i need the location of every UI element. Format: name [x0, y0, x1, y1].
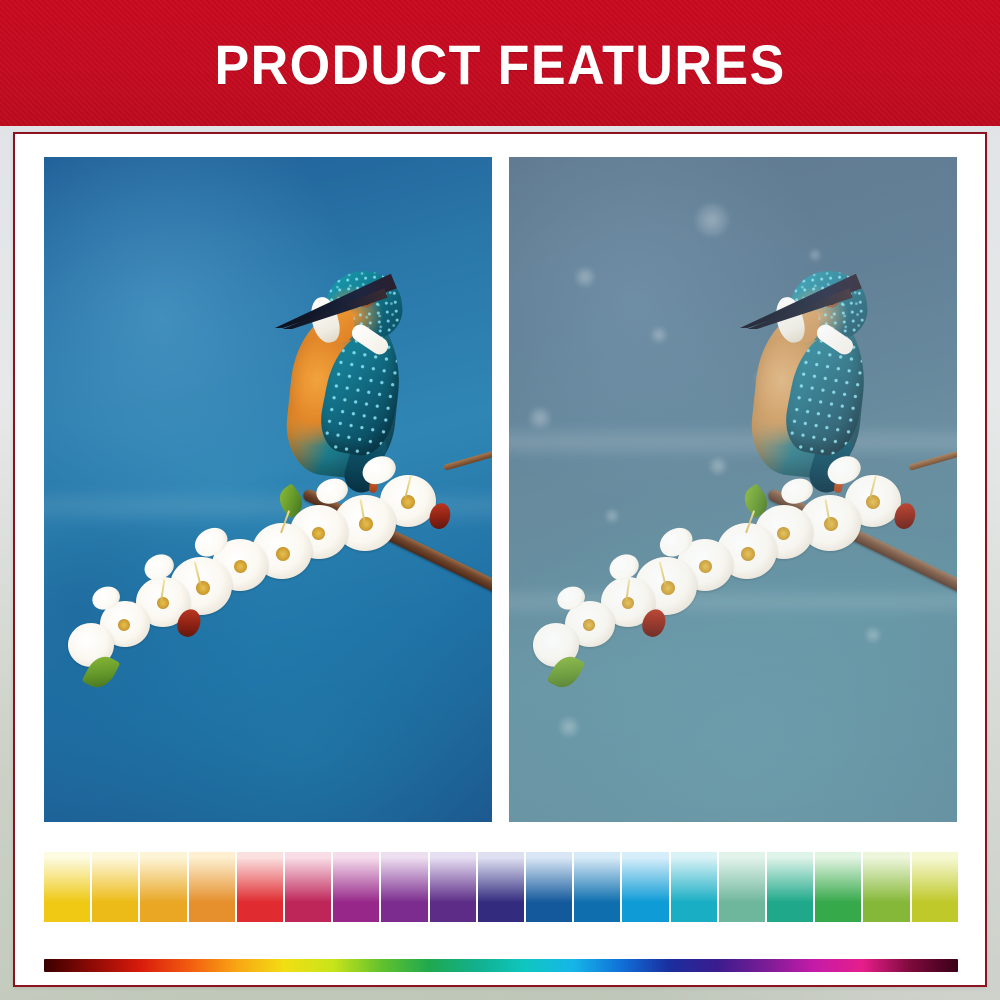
color-swatch-cyan[interactable] [671, 852, 717, 922]
color-swatch-strip[interactable] [44, 852, 958, 922]
page-title: PRODUCT FEATURES [214, 33, 785, 93]
color-swatch-lime-yellow[interactable] [912, 852, 958, 922]
color-swatch-dark-blue[interactable] [526, 852, 572, 922]
blossom-center [622, 597, 634, 609]
page-root: PRODUCT FEATURES [0, 0, 1000, 1000]
color-swatch-light-blue[interactable] [622, 852, 668, 922]
blossom-center [699, 560, 712, 573]
color-swatch-purple[interactable] [381, 852, 427, 922]
blossom-cluster [509, 157, 957, 822]
blossom-center [234, 560, 247, 573]
color-swatch-orange[interactable] [189, 852, 235, 922]
rainbow-spectrum-bar[interactable] [44, 959, 958, 972]
color-swatch-blue[interactable] [574, 852, 620, 922]
blossom-center [312, 527, 325, 540]
color-swatch-crimson-pink[interactable] [285, 852, 331, 922]
header-band: PRODUCT FEATURES [0, 0, 1000, 126]
blossom-center [157, 597, 169, 609]
blossom-center [777, 527, 790, 540]
content-card [13, 132, 987, 987]
color-swatch-golden-yellow[interactable] [92, 852, 138, 922]
blossom-center [866, 495, 880, 509]
blossom-center [401, 495, 415, 509]
color-swatch-magenta-purple[interactable] [333, 852, 379, 922]
blossom-center [276, 547, 290, 561]
color-swatch-green[interactable] [815, 852, 861, 922]
blossom-center [118, 619, 130, 631]
photo-comparison-row [44, 157, 958, 822]
color-swatch-red[interactable] [237, 852, 283, 922]
color-swatch-sea-green[interactable] [719, 852, 765, 922]
blossom-center [359, 517, 373, 531]
color-swatch-indigo[interactable] [478, 852, 524, 922]
blossom-center [583, 619, 595, 631]
left-photo-panel[interactable] [44, 157, 492, 822]
color-swatch-teal-green[interactable] [767, 852, 813, 922]
color-swatch-yellow[interactable] [44, 852, 90, 922]
blossom-cluster [44, 157, 492, 822]
right-photo-panel[interactable] [509, 157, 957, 822]
blossom-center [824, 517, 838, 531]
color-swatch-deep-purple[interactable] [430, 852, 476, 922]
blossom-center [741, 547, 755, 561]
color-swatch-orange-yellow[interactable] [140, 852, 186, 922]
color-swatch-yellow-green[interactable] [863, 852, 909, 922]
